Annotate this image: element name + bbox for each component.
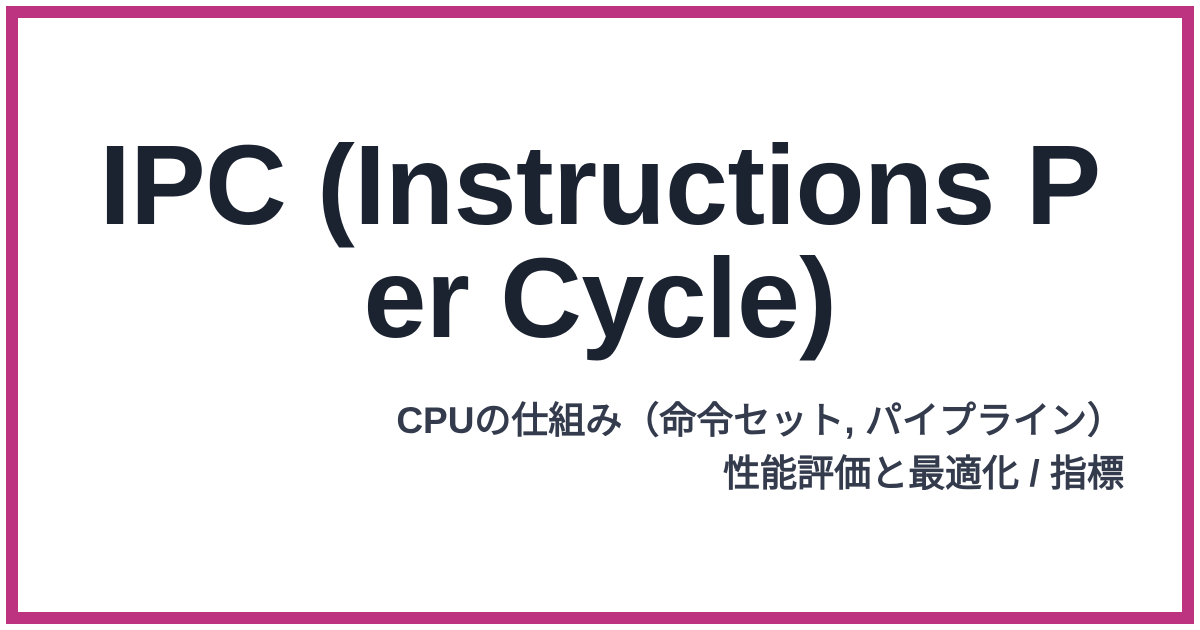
subtitle-block: CPUの仕組み（命令セット, パイプライン） 性能評価と最適化 / 指標 [76,395,1124,500]
card-content: IPC (Instructions Per Cycle) CPUの仕組み（命令セ… [18,18,1182,612]
subtitle-line-2: 性能評価と最適化 / 指標 [76,448,1124,501]
page-title: IPC (Instructions Per Cycle) [76,129,1124,355]
subtitle-line-1: CPUの仕組み（命令セット, パイプライン） [76,395,1124,448]
ogp-card: IPC (Instructions Per Cycle) CPUの仕組み（命令セ… [0,0,1200,630]
